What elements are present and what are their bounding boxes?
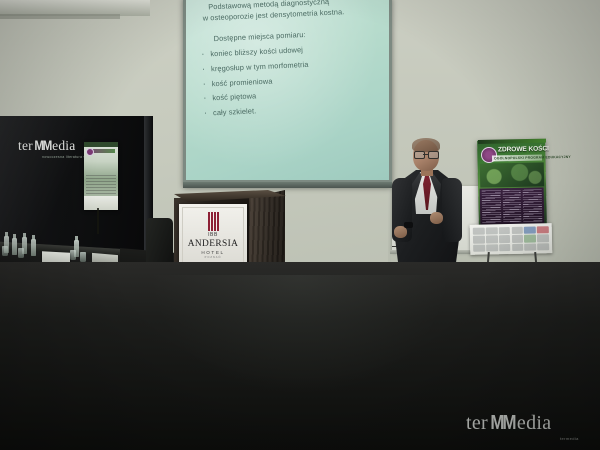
sponsor-logo [499, 235, 511, 242]
drinking-glass [2, 246, 8, 256]
small-poster-logo-strip [84, 196, 118, 210]
hotel-city-label: POZNAŃ [205, 256, 222, 259]
sponsor-logo [473, 228, 485, 235]
hotel-building-icon [208, 212, 219, 231]
watermark-caption: termedia [560, 436, 579, 441]
water-bottle [31, 239, 36, 256]
sponsor-logo [537, 243, 549, 250]
termedia-watermark: terMMedia [466, 412, 590, 435]
poster-text-column [502, 190, 521, 222]
sponsor-logo [486, 227, 498, 234]
poster-subtitle: OGÓLNOPOLSKI PROGRAM EDUKACYJNY [492, 154, 542, 161]
sponsor-logo [512, 244, 524, 251]
speaker-eyeglasses-icon [414, 151, 438, 157]
water-bottle [12, 238, 17, 255]
slide-bullet-list: koniec bliższy kości udowej kręgosłup w … [198, 40, 389, 119]
floor-reflection [150, 275, 450, 395]
eyeglass-lens [428, 151, 439, 159]
slide-lead: Podstawową metodą diagnostyczną w osteop… [208, 0, 385, 24]
speaker-arm [442, 178, 462, 242]
hotel-sub-label: HOTEL [201, 250, 224, 255]
poster-sponsor-logos [473, 226, 549, 252]
sponsor-logo [525, 243, 537, 250]
ceiling-shadow [0, 14, 120, 19]
screen-bottom-rail [183, 182, 392, 188]
poster-title: ZDROWE KOŚCI [498, 146, 544, 154]
drinking-glass [80, 252, 86, 262]
presentation-clicker [404, 222, 413, 228]
slide-content: Podstawową metodą diagnostyczną w osteop… [194, 0, 389, 120]
sponsor-logo [524, 235, 536, 242]
small-poster-emblem-icon [86, 148, 94, 156]
sponsor-logo [486, 244, 498, 251]
poster-photo-band [480, 162, 544, 187]
sponsor-logo [499, 244, 511, 251]
sponsor-logo [498, 227, 510, 234]
sponsor-logo [511, 227, 523, 234]
small-poster-easel-leg [97, 208, 99, 234]
drinking-glass [70, 250, 76, 260]
sponsor-logo [473, 236, 485, 243]
watermark-suffix: edia [517, 412, 552, 434]
podium-sign-border: IBB ANDERSIA HOTEL POZNAŃ [182, 207, 244, 263]
hotel-name-label: ANDERSIA [188, 239, 239, 249]
sponsor-logo [473, 244, 485, 251]
sponsor-logo [537, 226, 549, 233]
watermark-m-mark: MM [490, 412, 514, 435]
watermark-prefix: ter [466, 412, 488, 434]
poster-text-column [482, 190, 501, 222]
eyeglass-lens [414, 151, 425, 159]
drinking-glass [18, 248, 24, 258]
podium-hotel-sign: IBB ANDERSIA HOTEL POZNAŃ [179, 204, 247, 266]
conference-photo-scene: Podstawową metodą diagnostyczną w osteop… [0, 0, 600, 450]
poster-text-column [523, 189, 542, 221]
poster-text-columns [482, 189, 543, 222]
hotel-ibb-label: IBB [208, 232, 218, 238]
speaker-hand [430, 212, 443, 224]
sponsor-logo [537, 235, 549, 242]
projection-screen: Podstawową metodą diagnostyczną w osteop… [186, 0, 389, 180]
logo-suffix: edia [52, 138, 75, 153]
sponsor-logo [486, 236, 498, 243]
logo-prefix: ter [18, 138, 33, 153]
sponsor-logo [524, 226, 536, 233]
small-poster-text-block [86, 175, 116, 197]
speaker-hair [412, 138, 440, 152]
logo-m-mark: MM [34, 138, 51, 153]
poster-subtitle-bar: OGÓLNOPOLSKI PROGRAM EDUKACYJNY [492, 154, 542, 161]
sponsor-logo [512, 235, 524, 242]
small-poster-header-bar [84, 142, 118, 147]
